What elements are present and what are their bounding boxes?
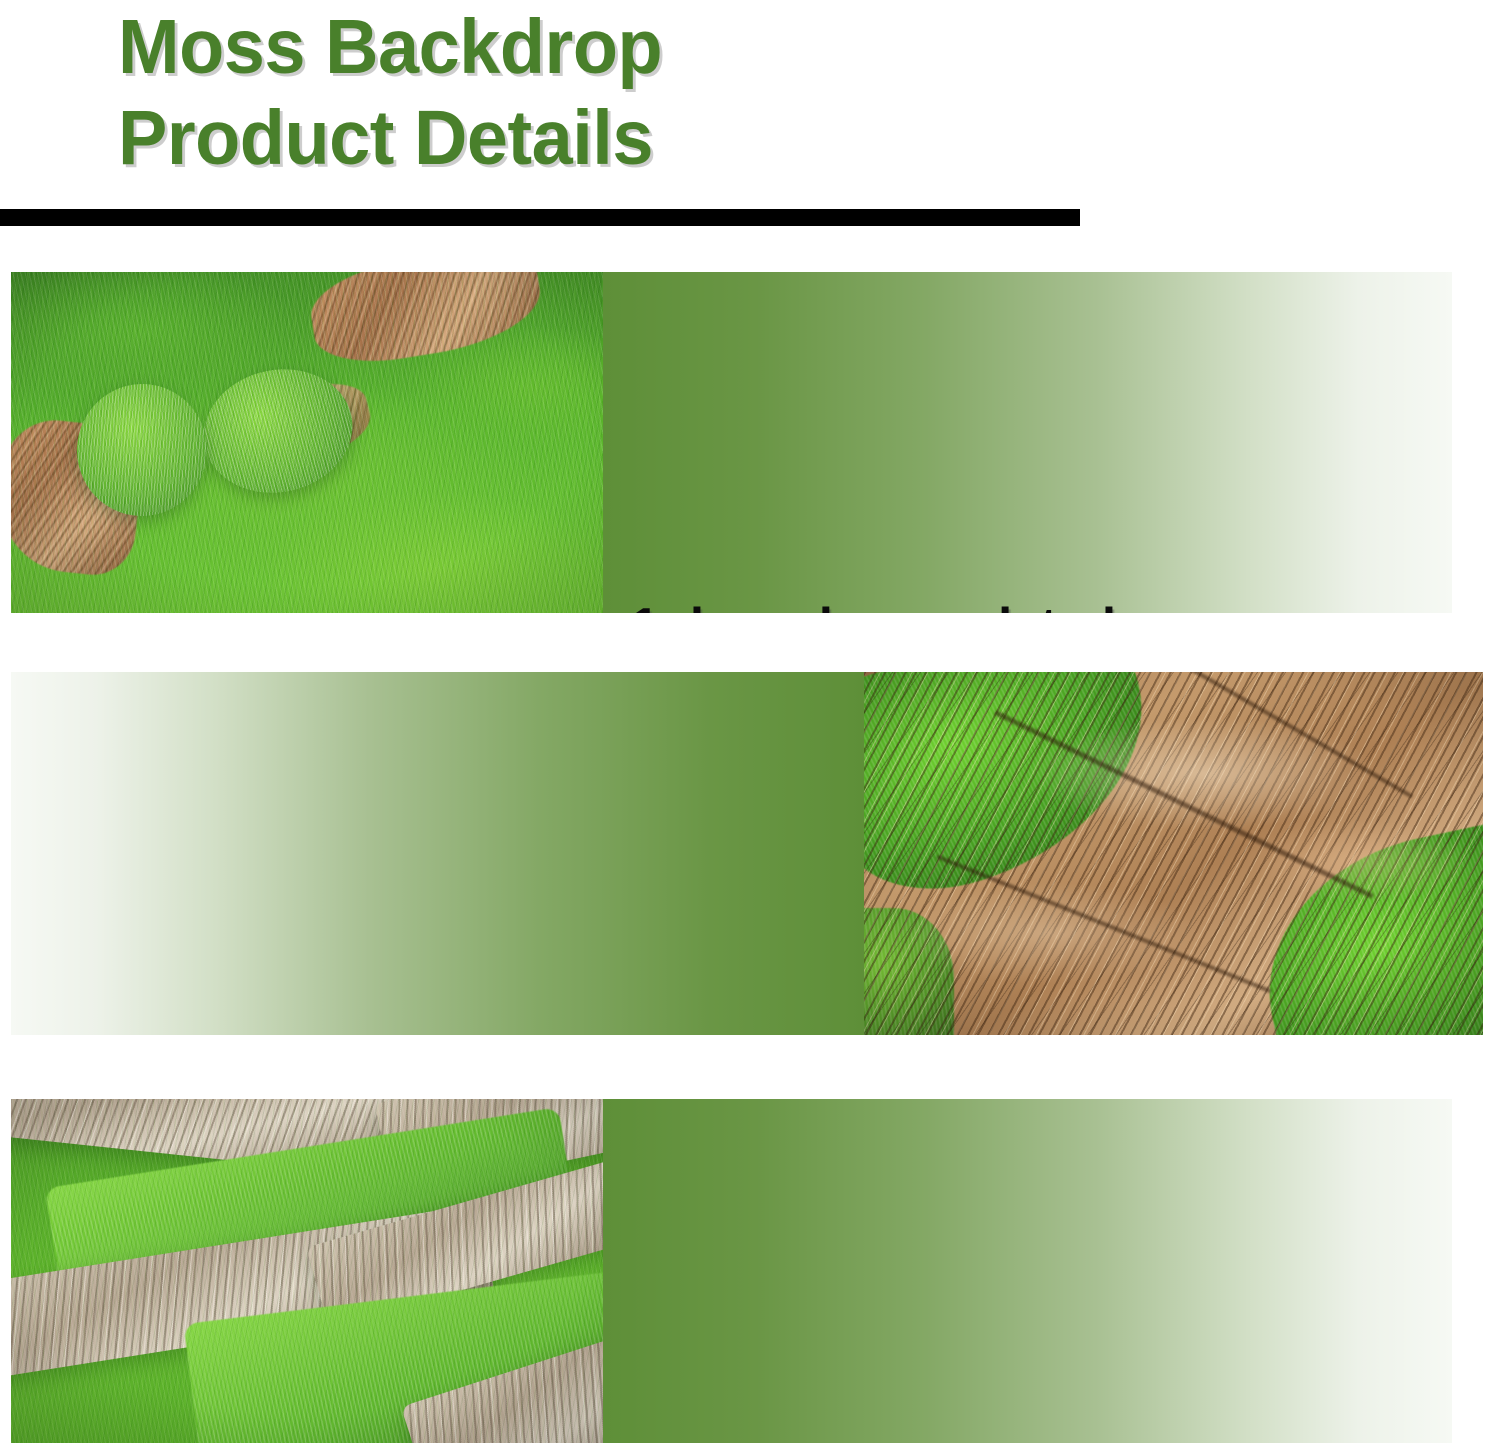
photo-vignette [11, 1099, 603, 1443]
feature-label-1: 1.densely populated with mossy grass [631, 584, 1116, 613]
page-title: Moss Backdrop Product Details [118, 2, 1118, 184]
title-underline-rule [0, 209, 1080, 226]
feature-photo-2 [864, 672, 1483, 1035]
page-title-line-1: Moss Backdrop [118, 2, 1078, 93]
feature-gradient-band-1 [603, 272, 1452, 613]
feature-gradient-band-2 [11, 672, 864, 1035]
feature-photo-1 [11, 272, 603, 613]
photo-vignette [864, 672, 1483, 1035]
feature-photo-3 [11, 1099, 603, 1443]
feature-row-2: 2.High level of scene reproduction [11, 672, 1483, 1035]
feature-gradient-band-3 [603, 1099, 1452, 1443]
photo-vignette [11, 272, 603, 613]
feature-row-3: 3.Comparison of physical color mixing [11, 1099, 1452, 1443]
feature-row-1: 1.densely populated with mossy grass [11, 272, 1452, 613]
page-title-line-2: Product Details [118, 93, 1078, 184]
